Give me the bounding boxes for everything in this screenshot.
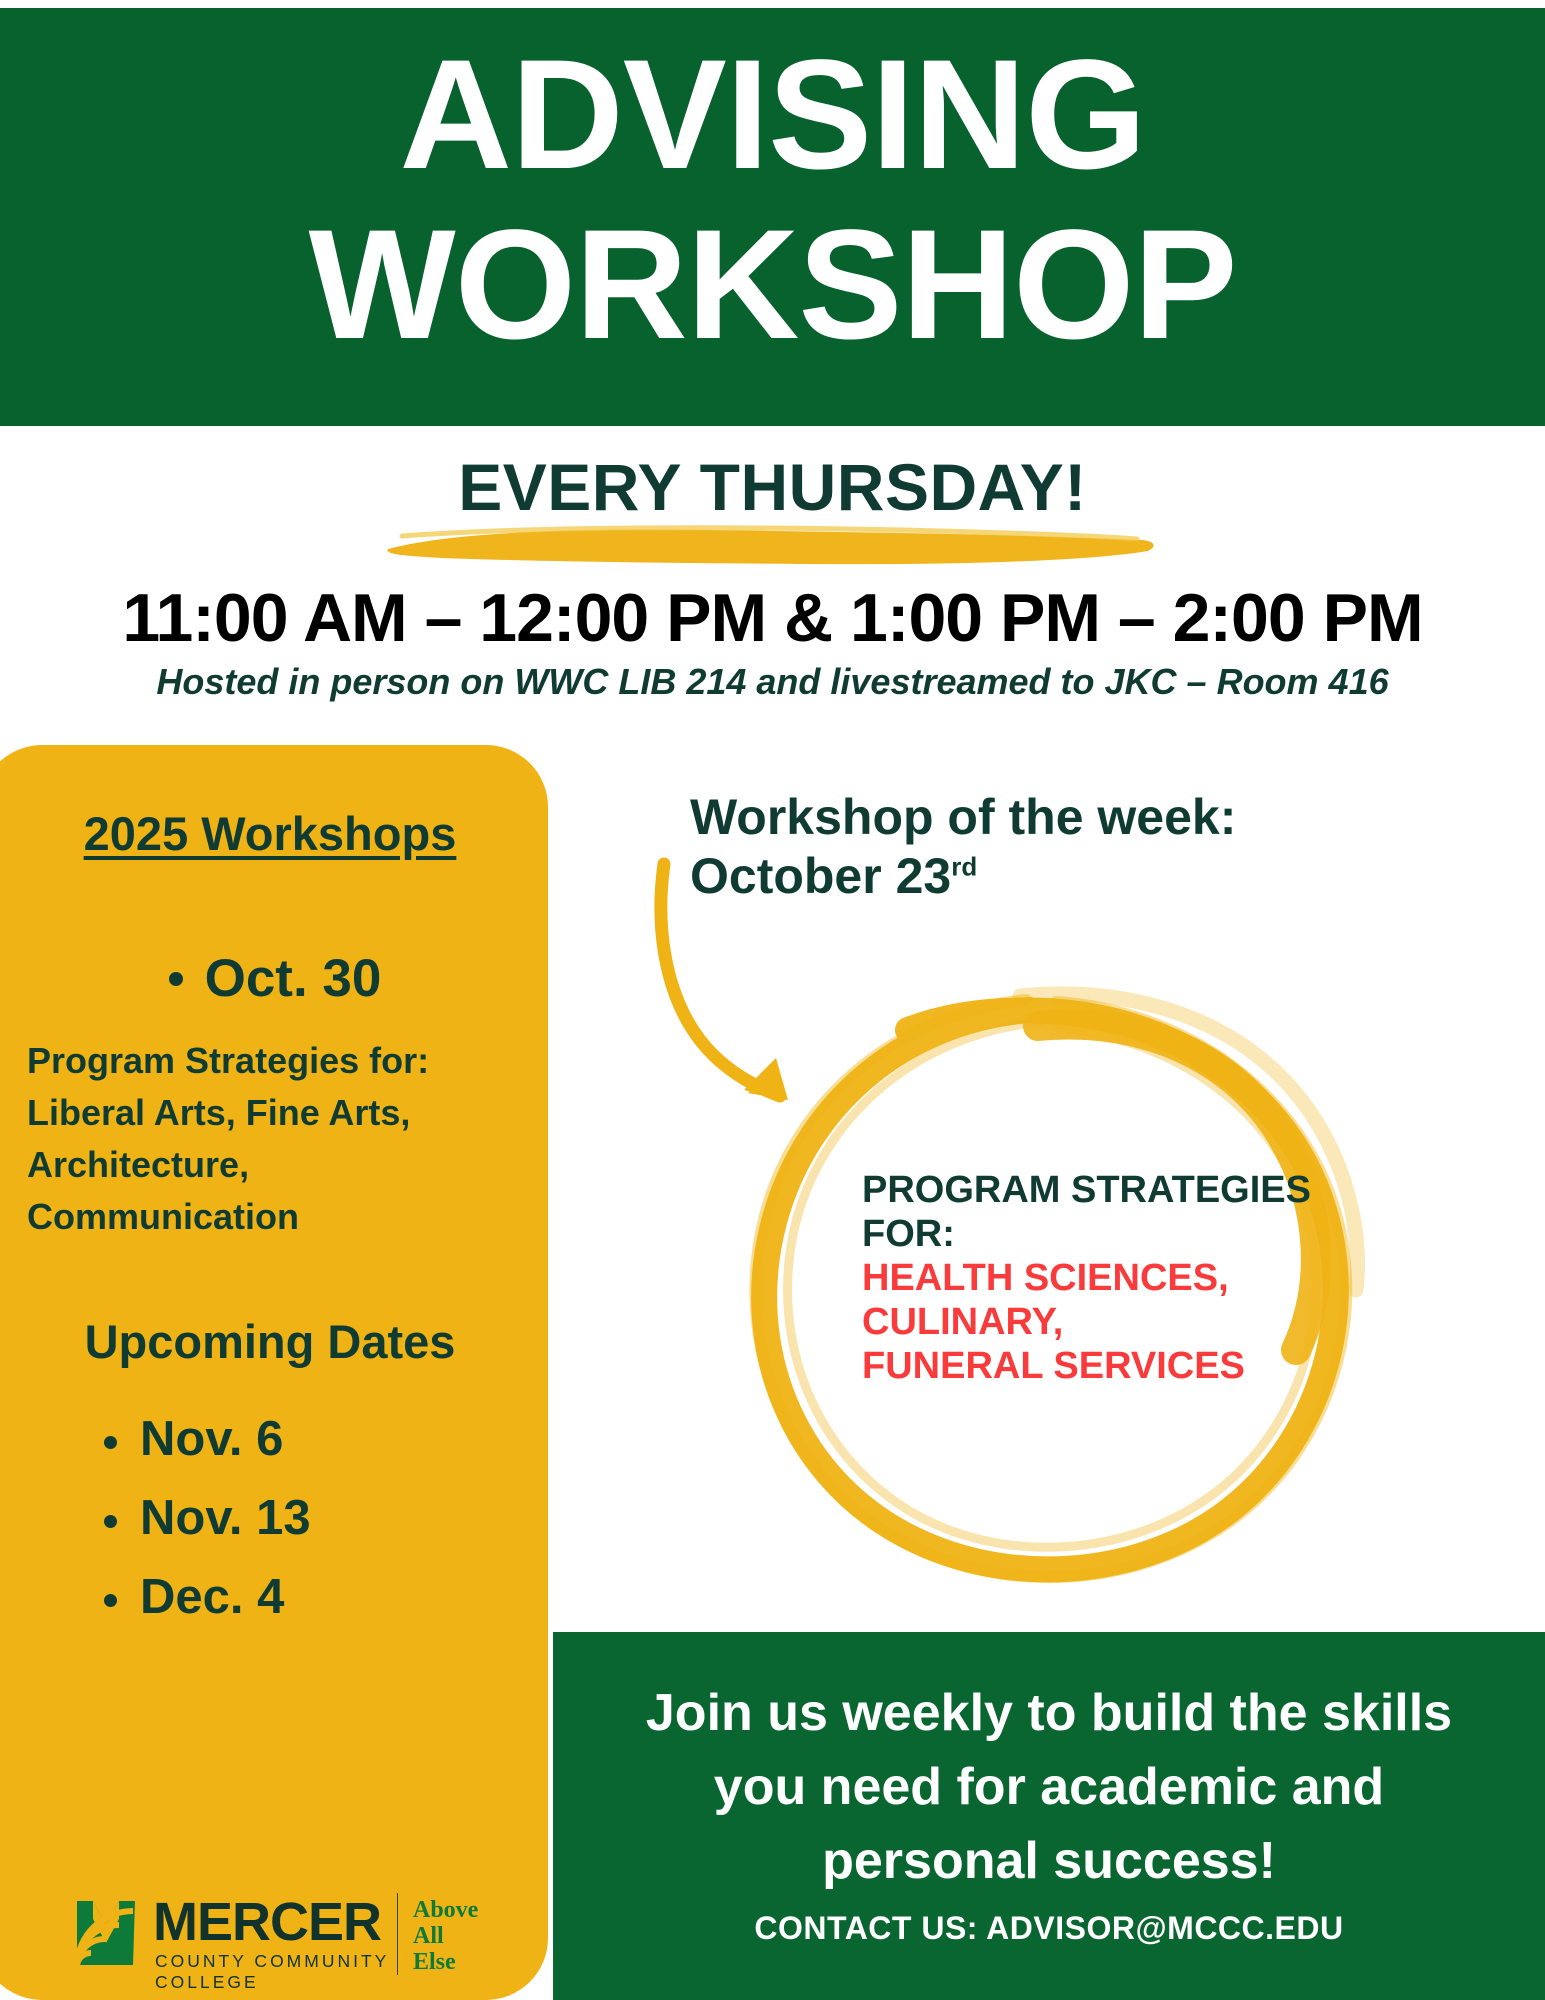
featured-date-item: Oct. 30 [50, 949, 500, 1009]
circled-text-red-1: HEALTH SCIENCES, [862, 1256, 1322, 1300]
workshop-times: 11:00 AM – 12:00 PM & 1:00 PM – 2:00 PM [0, 580, 1545, 656]
circled-text-red-3: FUNERAL SERVICES [862, 1344, 1322, 1388]
footer-banner: Join us weekly to build the skills you n… [553, 1632, 1545, 2000]
logo-tagline: Above All Else [413, 1897, 478, 1975]
logo-divider [397, 1893, 398, 1975]
feature-label: Workshop of the week: [690, 789, 1236, 845]
workshop-location: Hosted in person on WWC LIB 214 and live… [0, 660, 1545, 704]
mercer-logo: MERCER COUNTY COMMUNITY COLLEGE Above Al… [75, 1893, 465, 1979]
header-band: ADVISING WORKSHOP [0, 8, 1545, 426]
logo-wordmark: MERCER [153, 1895, 381, 1949]
featured-date-label: Oct. 30 [205, 949, 382, 1008]
upcoming-dates-list: Nov. 6 Nov. 13 Dec. 4 [100, 1400, 311, 1637]
page-title-line1: ADVISING [0, 30, 1545, 200]
circled-text-red-2: CULINARY, [862, 1300, 1322, 1344]
upcoming-dates-heading: Upcoming Dates [20, 1315, 520, 1369]
page-title: ADVISING WORKSHOP [0, 30, 1545, 370]
highlight-swoosh-icon [382, 522, 1162, 568]
feature-date-suffix: rd [951, 851, 977, 881]
list-item: Dec. 4 [100, 1558, 311, 1637]
footer-contact: CONTACT US: ADVISOR@MCCC.EDU [603, 1910, 1495, 1947]
day-headline: EVERY THURSDAY! [0, 452, 1545, 522]
advising-workshop-poster: ADVISING WORKSHOP EVERY THURSDAY! 11:00 … [0, 0, 1545, 2000]
mercer-m-logo-mark [75, 1899, 137, 1967]
list-item: Nov. 6 [100, 1400, 311, 1479]
page-title-line2: WORKSHOP [0, 200, 1545, 370]
list-item: Nov. 13 [100, 1479, 311, 1558]
circled-feature-text: PROGRAM STRATEGIES FOR: HEALTH SCIENCES,… [862, 1168, 1322, 1388]
bullet-dot-icon [169, 972, 183, 986]
circled-text-dark: PROGRAM STRATEGIES FOR: [862, 1168, 1322, 1256]
featured-description: Program Strategies for: Liberal Arts, Fi… [27, 1035, 487, 1243]
sidebar-panel: 2025 Workshops Oct. 30 Program Strategie… [0, 745, 548, 2000]
footer-call-to-action: Join us weekly to build the skills you n… [603, 1676, 1495, 1898]
sidebar-heading: 2025 Workshops [20, 807, 520, 861]
